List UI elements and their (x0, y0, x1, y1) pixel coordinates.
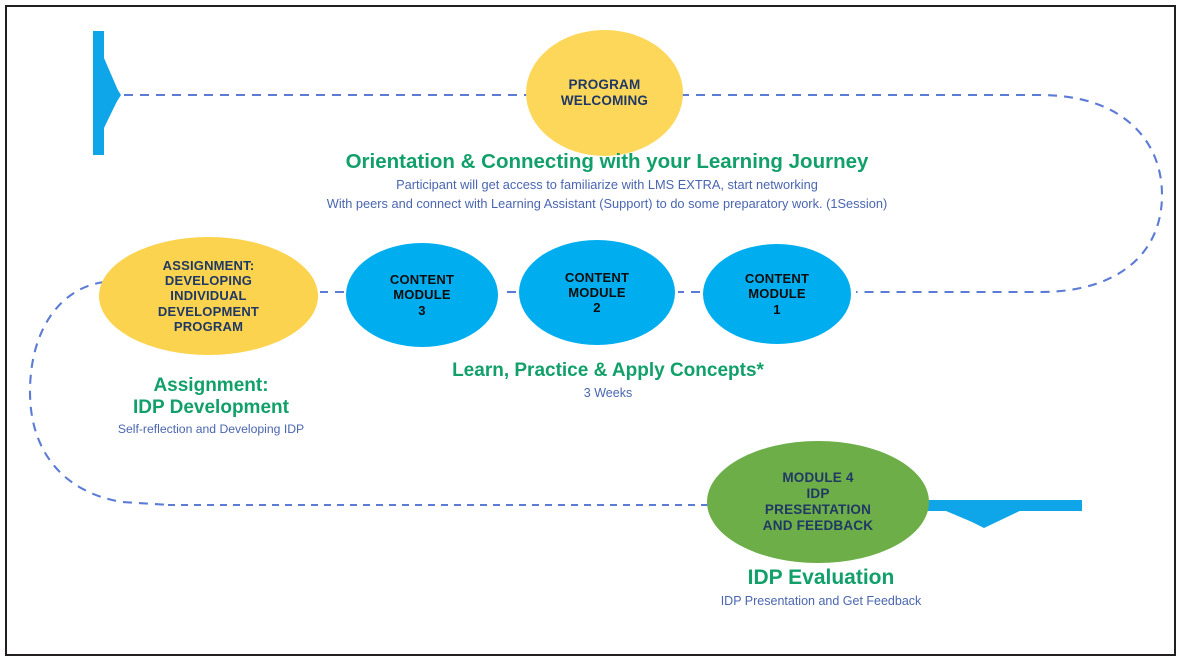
node-line: MODULE (352, 287, 492, 302)
node-line: MODULE (525, 285, 669, 300)
node-line: MODULE 4 (713, 470, 923, 486)
caption-idp-evaluation: IDP Evaluation IDP Presentation and Get … (660, 566, 982, 609)
caption-learn-practice: Learn, Practice & Apply Concepts* 3 Week… (378, 360, 838, 401)
node-line: CONTENT (352, 272, 492, 287)
caption-subtitle-line-1: Self-reflection and Developing IDP (40, 422, 382, 438)
caption-title-line-2: IDP Development (40, 397, 382, 419)
node-line: AND FEEDBACK (713, 518, 923, 534)
node-content-module-3[interactable]: CONTENT MODULE 3 (346, 243, 498, 347)
diagram-canvas: PROGRAM WELCOMING ASSIGNMENT: DEVELOPING… (0, 0, 1181, 661)
caption-title: Learn, Practice & Apply Concepts* (378, 360, 838, 382)
caption-subtitle-line-2: With peers and connect with Learning Ass… (186, 196, 1028, 213)
node-line: DEVELOPMENT (105, 304, 312, 319)
node-line: MODULE (709, 286, 845, 301)
node-content-module-1[interactable]: CONTENT MODULE 1 (703, 244, 851, 344)
caption-subtitle-line-1: 3 Weeks (378, 385, 838, 401)
caption-orientation: Orientation & Connecting with your Learn… (186, 150, 1028, 213)
caption-title-line-1: Assignment: (40, 375, 382, 397)
node-line: PROGRAM (532, 77, 677, 93)
node-line: IDP (713, 486, 923, 502)
node-line: 1 (709, 302, 845, 317)
node-line: WELCOMING (532, 93, 677, 109)
caption-title: Orientation & Connecting with your Learn… (186, 150, 1028, 174)
node-line: DEVELOPING (105, 273, 312, 288)
caption-assignment-idp-development: Assignment: IDP Development Self-reflect… (40, 375, 382, 438)
node-module-4-idp[interactable]: MODULE 4 IDP PRESENTATION AND FEEDBACK (707, 441, 929, 563)
caption-subtitle-line-1: Participant will get access to familiari… (186, 177, 1028, 194)
node-line: PRESENTATION (713, 502, 923, 518)
node-line: ASSIGNMENT: (105, 258, 312, 273)
node-line: CONTENT (709, 271, 845, 286)
node-program-welcoming[interactable]: PROGRAM WELCOMING (526, 30, 683, 156)
caption-subtitle-line-1: IDP Presentation and Get Feedback (660, 593, 982, 609)
node-line: 3 (352, 303, 492, 318)
node-line: INDIVIDUAL (105, 288, 312, 303)
caption-title: IDP Evaluation (660, 566, 982, 590)
node-line: CONTENT (525, 270, 669, 285)
node-assignment-idp[interactable]: ASSIGNMENT: DEVELOPING INDIVIDUAL DEVELO… (99, 237, 318, 355)
node-content-module-2[interactable]: CONTENT MODULE 2 (519, 240, 675, 345)
node-line: 2 (525, 300, 669, 315)
node-line: PROGRAM (105, 319, 312, 334)
